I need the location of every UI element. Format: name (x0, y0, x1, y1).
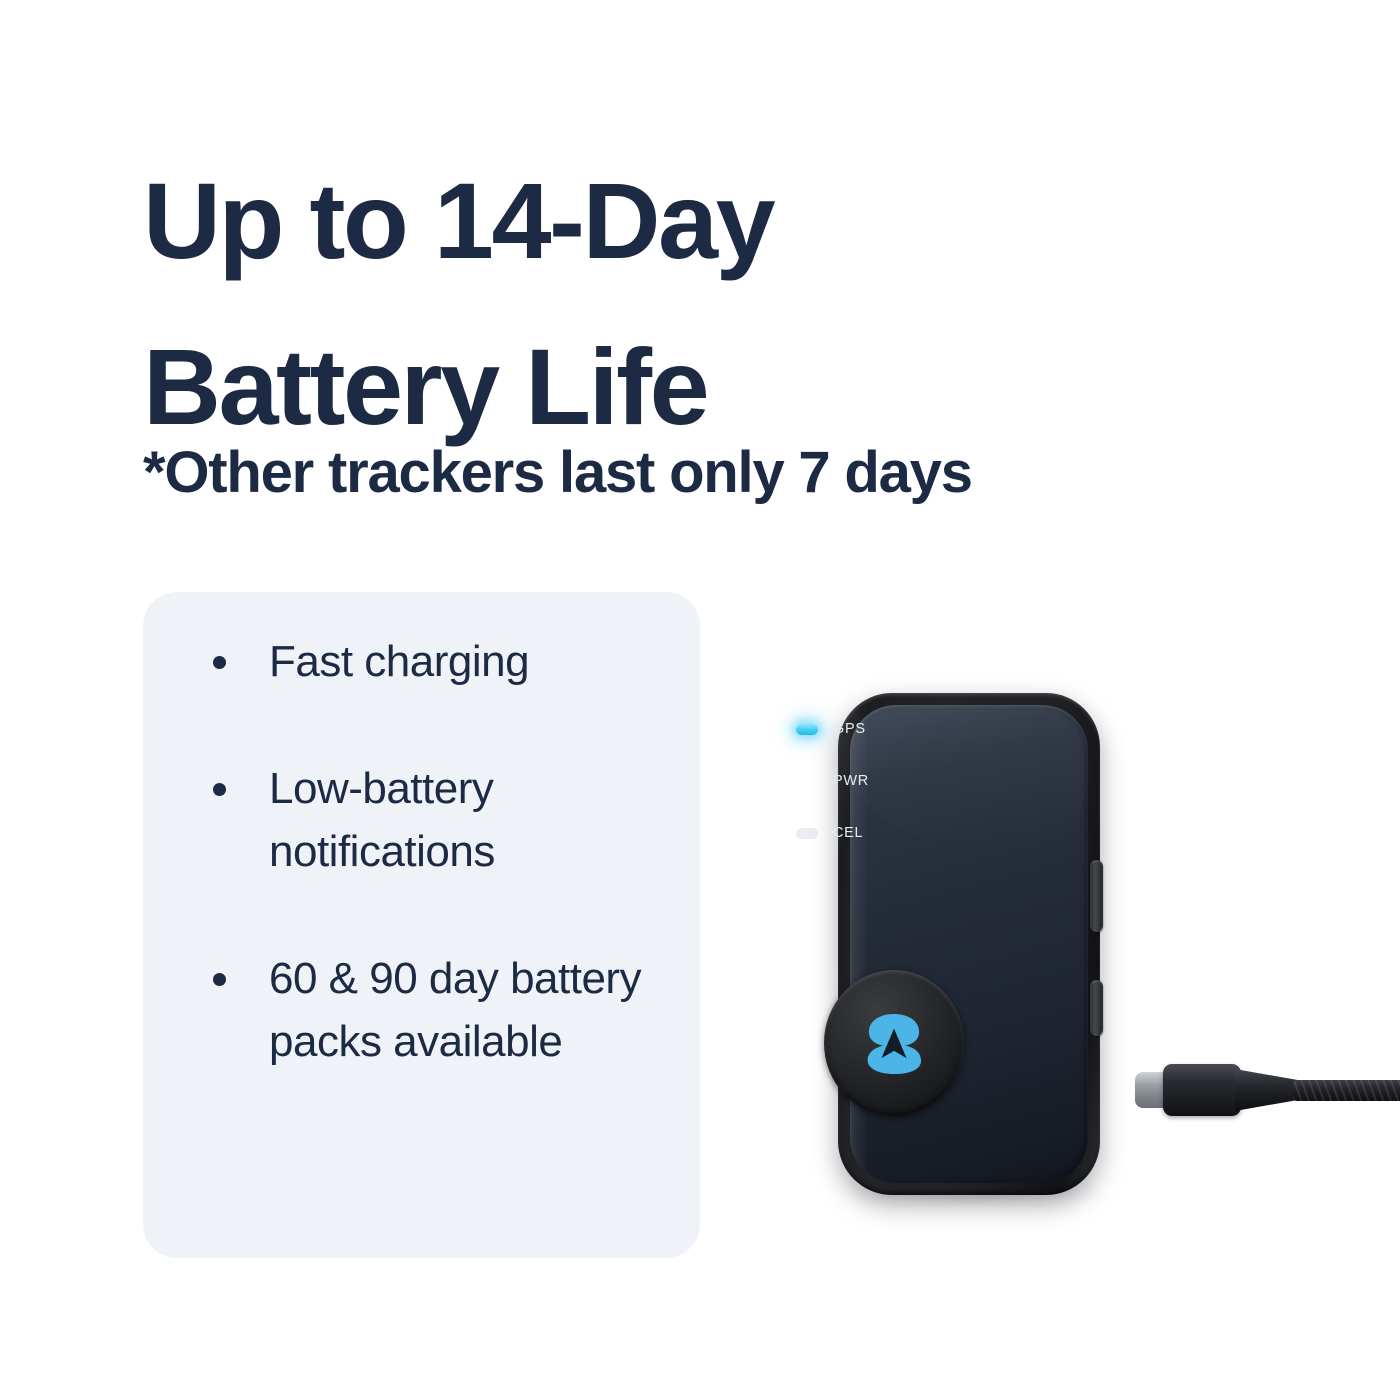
list-item: Fast charging (197, 630, 654, 693)
list-item-label: 60 & 90 day battery packs available (269, 954, 641, 1066)
feature-card: Fast charging Low-battery notifications … (143, 592, 700, 1258)
list-item-label: Low-battery notifications (269, 764, 495, 876)
usb-c-strain-relief (1235, 1069, 1297, 1111)
gps-led-icon (796, 724, 818, 735)
usb-c-charging-cable (1135, 1055, 1400, 1125)
braided-cable (1293, 1080, 1400, 1101)
headline-line-1: Up to 14-Day (143, 138, 1273, 304)
bullet-icon (213, 783, 226, 796)
subheadline: *Other trackers last only 7 days (143, 437, 972, 509)
gps-led-label: GPS (833, 721, 866, 737)
usb-c-connector-housing (1163, 1064, 1241, 1116)
cel-led-label: CEL (833, 825, 863, 841)
device-side-button[interactable] (1090, 860, 1103, 932)
cel-led-icon (796, 828, 818, 839)
bullet-icon (213, 973, 226, 986)
list-item-label: Fast charging (269, 637, 529, 686)
gps-tracker-device: GPS PWR CEL (760, 650, 1400, 1230)
led-row-gps: GPS (796, 718, 869, 740)
device-power-button[interactable] (824, 970, 964, 1116)
bullet-icon (213, 656, 226, 669)
spytec-s-arrow-logo-icon (861, 1010, 927, 1076)
pwr-led-label: PWR (833, 773, 869, 789)
pwr-led-icon (796, 776, 818, 787)
led-row-cel: CEL (796, 822, 869, 844)
device-side-button-secondary[interactable] (1090, 980, 1103, 1036)
led-row-pwr: PWR (796, 770, 869, 792)
feature-list: Fast charging Low-battery notifications … (197, 630, 654, 1073)
page-title: Up to 14-Day Battery Life (143, 138, 1273, 470)
list-item: Low-battery notifications (197, 757, 654, 883)
list-item: 60 & 90 day battery packs available (197, 947, 654, 1073)
led-indicator-group: GPS PWR CEL (796, 718, 869, 844)
